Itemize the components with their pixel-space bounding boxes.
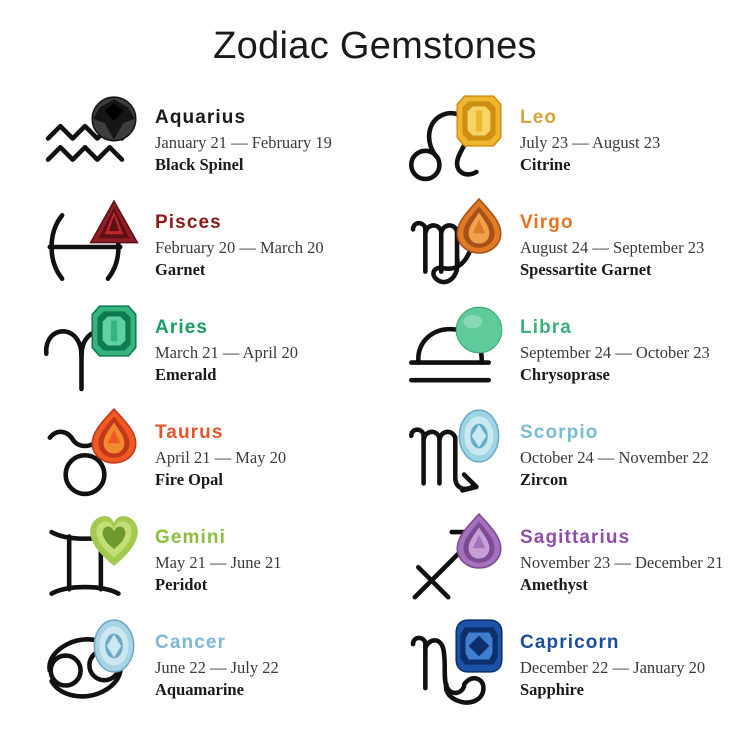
date-range: February 20 — March 20	[155, 237, 385, 258]
emerald-cut-gem-icon	[453, 92, 505, 150]
oval-cut-gem-icon	[88, 617, 140, 675]
info-taurus: TaurusApril 21 — May 20Fire Opal	[155, 405, 385, 491]
stone-name: Chrysoprase	[520, 364, 750, 385]
zodiac-entry-cancer: CancerJune 22 — July 22Aquamarine	[40, 615, 385, 720]
info-virgo: VirgoAugust 24 — September 23Spessartite…	[520, 195, 750, 281]
sign-name: Pisces	[155, 212, 385, 234]
oval-cut-gem-icon	[453, 407, 505, 465]
sign-name: Leo	[520, 107, 750, 129]
page-title: Zodiac Gemstones	[0, 0, 750, 68]
date-range: July 23 — August 23	[520, 132, 750, 153]
emblem-aquarius	[40, 90, 155, 190]
date-range: December 22 — January 20	[520, 657, 750, 678]
emblem-aries	[40, 300, 155, 400]
info-pisces: PiscesFebruary 20 — March 20Garnet	[155, 195, 385, 281]
pear-cut-gem-icon	[453, 512, 505, 570]
zodiac-entry-scorpio: ScorpioOctober 24 — November 22Zircon	[405, 405, 750, 510]
emblem-pisces	[40, 195, 155, 295]
sign-name: Taurus	[155, 422, 385, 444]
zodiac-entry-sagittarius: SagittariusNovember 23 — December 21Amet…	[405, 510, 750, 615]
emblem-gemini	[40, 510, 155, 610]
date-range: August 24 — September 23	[520, 237, 750, 258]
stone-name: Peridot	[155, 574, 385, 595]
sign-name: Gemini	[155, 527, 385, 549]
trillion-cut-gem-icon	[88, 197, 140, 255]
pear-cut-gem-icon	[453, 197, 505, 255]
sign-name: Cancer	[155, 632, 385, 654]
info-cancer: CancerJune 22 — July 22Aquamarine	[155, 615, 385, 701]
emblem-capricorn	[405, 615, 520, 715]
zodiac-entry-libra: LibraSeptember 24 — October 23Chrysopras…	[405, 300, 750, 405]
date-range: January 21 — February 19	[155, 132, 385, 153]
heart-cut-gem-icon	[88, 512, 140, 570]
emblem-leo	[405, 90, 520, 190]
date-range: May 21 — June 21	[155, 552, 385, 573]
emerald-cut-gem-icon	[88, 302, 140, 360]
emblem-scorpio	[405, 405, 520, 505]
cabochon-gem-icon	[453, 302, 505, 360]
date-range: November 23 — December 21	[520, 552, 750, 573]
stone-name: Spessartite Garnet	[520, 259, 750, 280]
zodiac-entry-virgo: VirgoAugust 24 — September 23Spessartite…	[405, 195, 750, 300]
date-range: June 22 — July 22	[155, 657, 385, 678]
stone-name: Fire Opal	[155, 469, 385, 490]
pear-cut-gem-icon	[88, 407, 140, 465]
info-sagittarius: SagittariusNovember 23 — December 21Amet…	[520, 510, 750, 596]
info-scorpio: ScorpioOctober 24 — November 22Zircon	[520, 405, 750, 491]
zodiac-entry-gemini: GeminiMay 21 — June 21Peridot	[40, 510, 385, 615]
zodiac-entry-pisces: PiscesFebruary 20 — March 20Garnet	[40, 195, 385, 300]
info-gemini: GeminiMay 21 — June 21Peridot	[155, 510, 385, 596]
emblem-cancer	[40, 615, 155, 715]
emblem-virgo	[405, 195, 520, 295]
zodiac-entry-leo: LeoJuly 23 — August 23Citrine	[405, 90, 750, 195]
sign-name: Virgo	[520, 212, 750, 234]
sign-name: Libra	[520, 317, 750, 339]
zodiac-entry-aries: AriesMarch 21 — April 20Emerald	[40, 300, 385, 405]
stone-name: Aquamarine	[155, 679, 385, 700]
sign-name: Sagittarius	[520, 527, 750, 549]
stone-name: Black Spinel	[155, 154, 385, 175]
sign-name: Capricorn	[520, 632, 750, 654]
emblem-libra	[405, 300, 520, 400]
stone-name: Amethyst	[520, 574, 750, 595]
info-libra: LibraSeptember 24 — October 23Chrysopras…	[520, 300, 750, 386]
info-aries: AriesMarch 21 — April 20Emerald	[155, 300, 385, 386]
sign-name: Aries	[155, 317, 385, 339]
stone-name: Citrine	[520, 154, 750, 175]
sign-name: Scorpio	[520, 422, 750, 444]
date-range: April 21 — May 20	[155, 447, 385, 468]
stone-name: Zircon	[520, 469, 750, 490]
date-range: March 21 — April 20	[155, 342, 385, 363]
zodiac-entry-capricorn: CapricornDecember 22 — January 20Sapphir…	[405, 615, 750, 720]
stone-name: Sapphire	[520, 679, 750, 700]
stone-name: Emerald	[155, 364, 385, 385]
sign-name: Aquarius	[155, 107, 385, 129]
zodiac-gemstones-infographic: Zodiac Gemstones AquariusJanuary 21 — Fe…	[0, 0, 750, 750]
date-range: September 24 — October 23	[520, 342, 750, 363]
zodiac-entry-taurus: TaurusApril 21 — May 20Fire Opal	[40, 405, 385, 510]
cushion-cut-gem-icon	[453, 617, 505, 675]
round-cut-gem-icon	[88, 92, 140, 150]
zodiac-entry-aquarius: AquariusJanuary 21 — February 19Black Sp…	[40, 90, 385, 195]
zodiac-grid: AquariusJanuary 21 — February 19Black Sp…	[0, 90, 750, 720]
emblem-taurus	[40, 405, 155, 505]
info-leo: LeoJuly 23 — August 23Citrine	[520, 90, 750, 176]
emblem-sagittarius	[405, 510, 520, 610]
stone-name: Garnet	[155, 259, 385, 280]
info-capricorn: CapricornDecember 22 — January 20Sapphir…	[520, 615, 750, 701]
date-range: October 24 — November 22	[520, 447, 750, 468]
info-aquarius: AquariusJanuary 21 — February 19Black Sp…	[155, 90, 385, 176]
